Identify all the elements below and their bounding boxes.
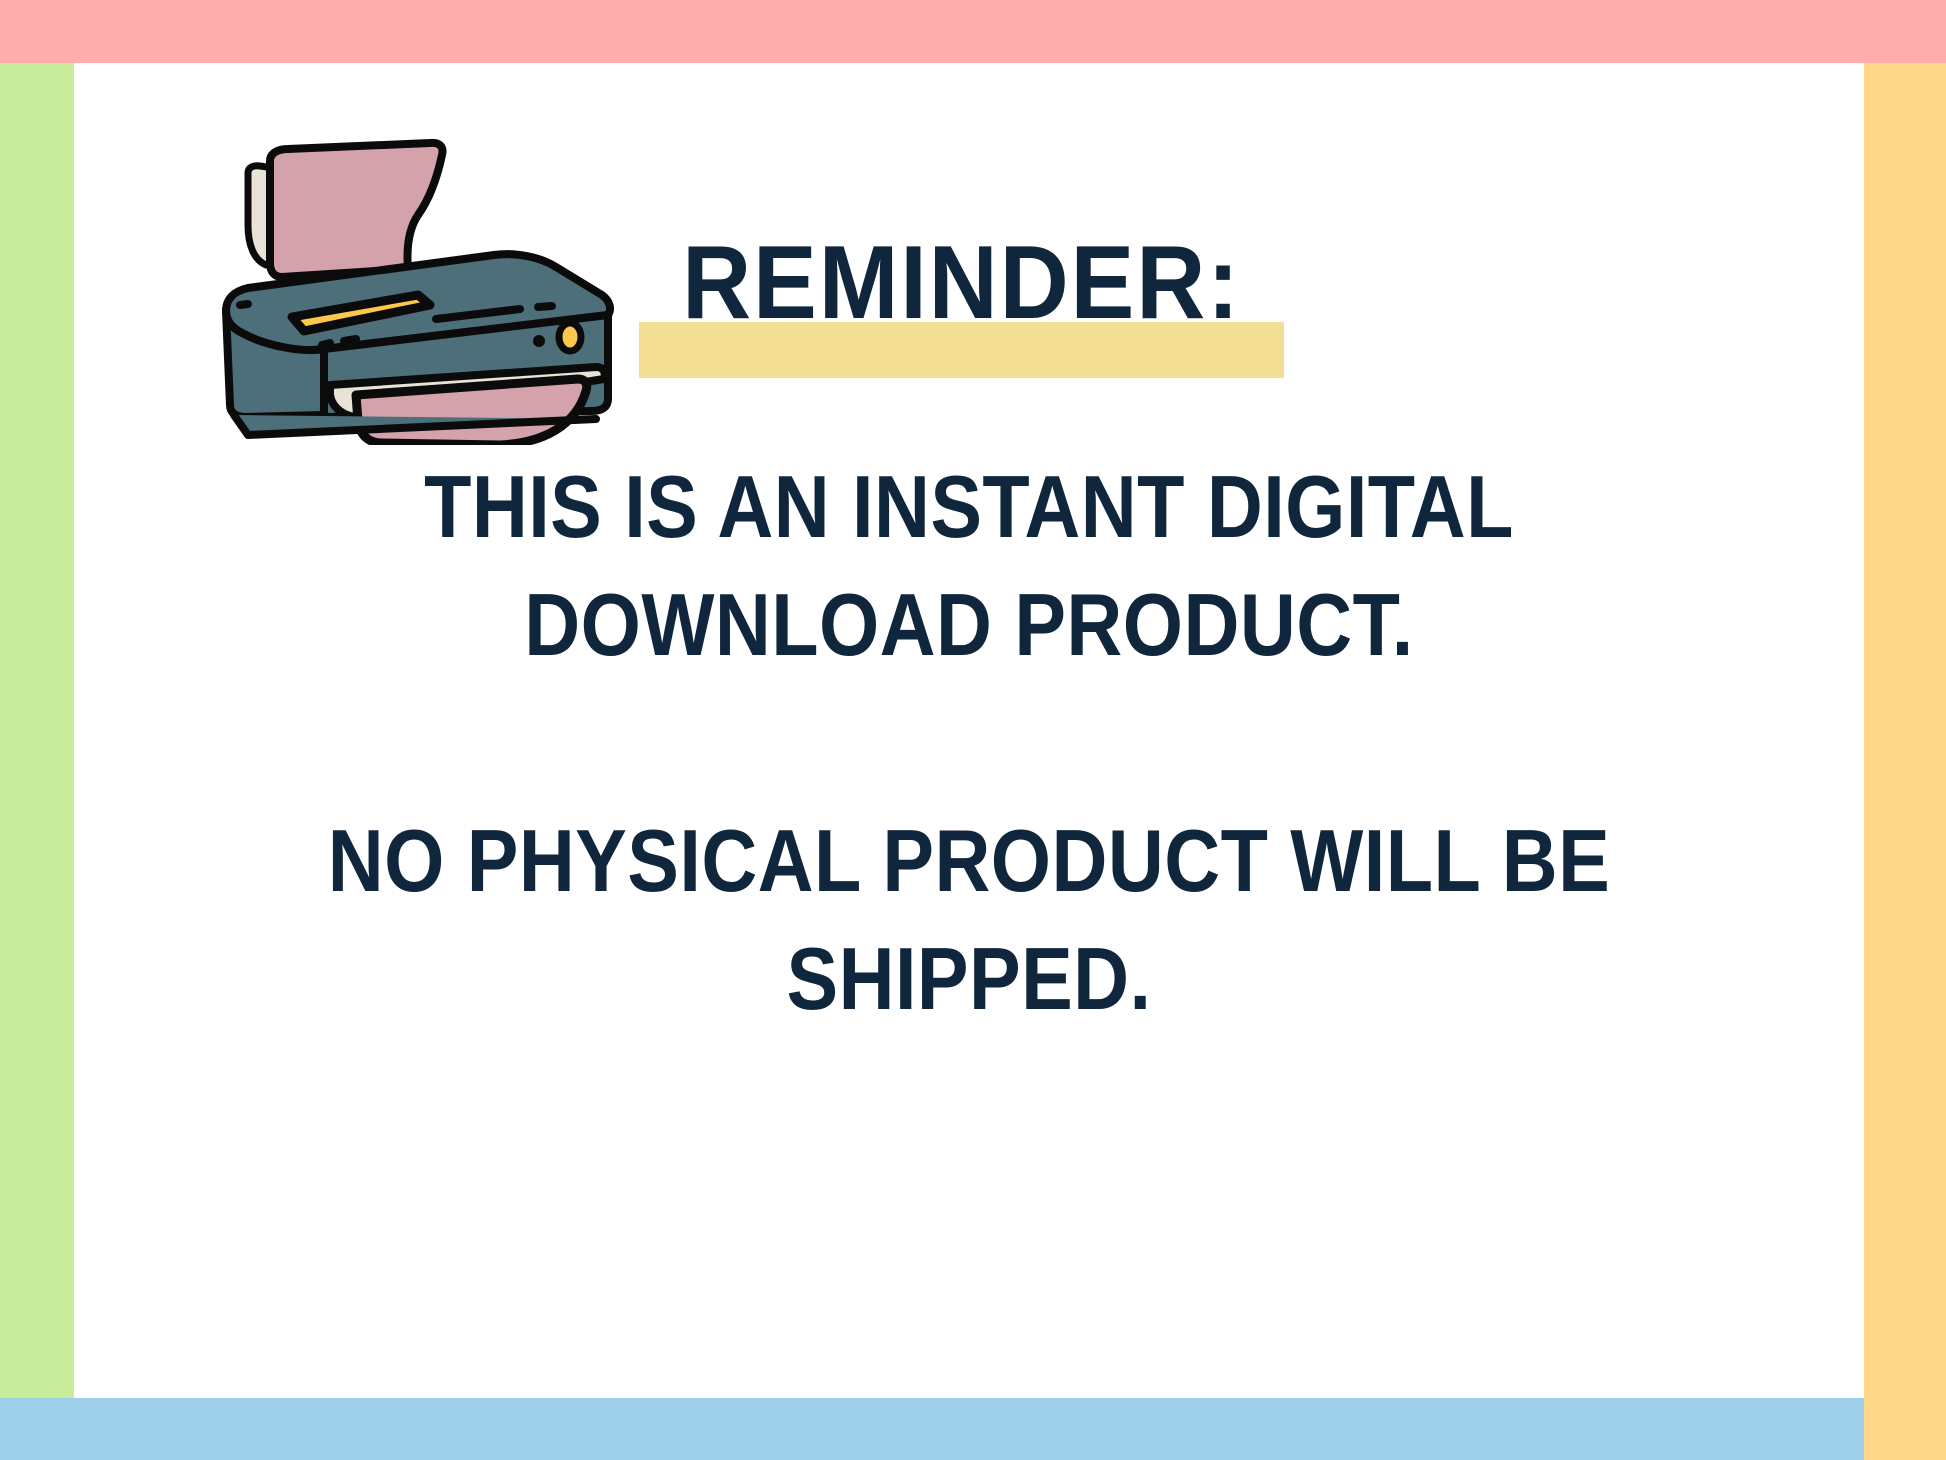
body-copy: THIS IS AN INSTANT DIGITAL DOWNLOAD PROD… bbox=[164, 448, 1774, 1038]
headline-block: REMINDER: bbox=[639, 228, 1284, 373]
paragraph-spacer bbox=[164, 684, 1774, 802]
notice-canvas: REMINDER: THIS IS AN INSTANT DIGITAL DOW… bbox=[0, 0, 1946, 1460]
page-title: REMINDER: bbox=[665, 228, 1258, 338]
body-paragraph-2: NO PHYSICAL PRODUCT WILL BE SHIPPED. bbox=[261, 802, 1678, 1038]
body-paragraph-1: THIS IS AN INSTANT DIGITAL DOWNLOAD PROD… bbox=[261, 448, 1678, 684]
content-panel: REMINDER: THIS IS AN INSTANT DIGITAL DOW… bbox=[74, 63, 1864, 1398]
yellow-right-band bbox=[1864, 63, 1946, 1460]
pink-top-band bbox=[0, 0, 1946, 63]
printer-icon bbox=[204, 105, 624, 445]
blue-bottom-band bbox=[0, 1398, 1864, 1460]
green-left-band bbox=[0, 63, 74, 1398]
